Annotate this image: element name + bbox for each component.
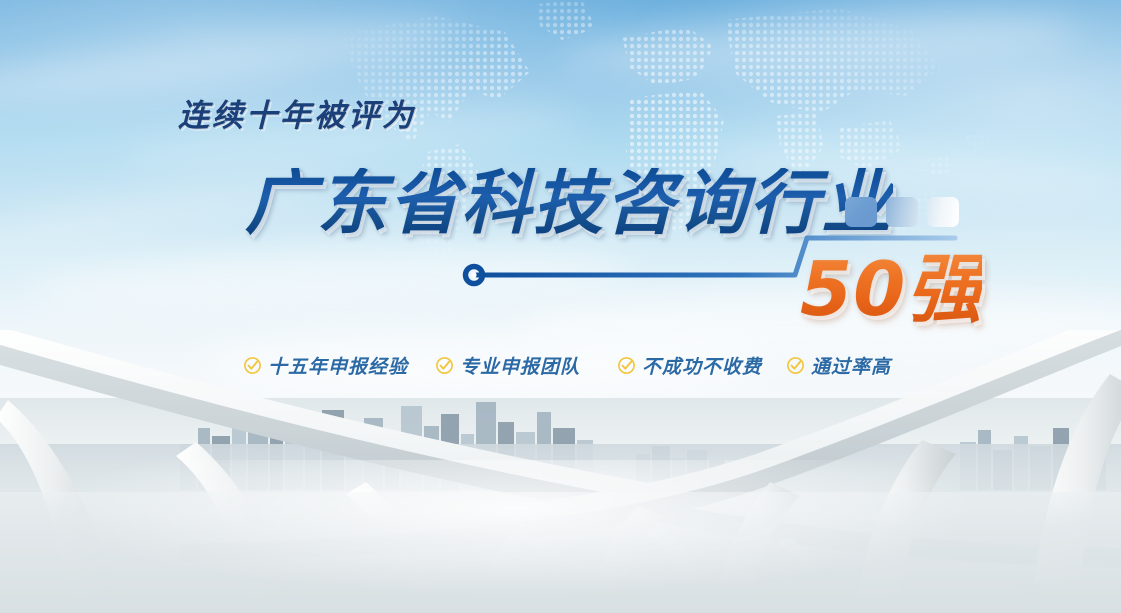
decor-squares-group (845, 197, 959, 227)
feature-label: 十五年申报经验 (268, 352, 408, 379)
feature-label: 专业申报团队 (460, 352, 580, 379)
promo-banner: 连续十年被评为 广东省科技咨询行业 50强 (0, 0, 1121, 613)
feature-item-4: 通过率高 (786, 352, 891, 379)
floor-highlight (0, 460, 1121, 613)
feature-label: 不成功不收费 (642, 352, 762, 379)
feature-item-2: 专业申报团队 (435, 352, 580, 379)
feature-item-3: 不成功不收费 (617, 352, 762, 379)
check-circle-icon (617, 356, 636, 375)
check-circle-icon (243, 356, 262, 375)
feature-label: 通过率高 (811, 352, 891, 379)
feature-item-1: 十五年申报经验 (243, 352, 408, 379)
rank-badge-50: 50强 (800, 252, 982, 327)
decor-square-1 (845, 197, 877, 227)
banner-kicker-text: 连续十年被评为 (178, 90, 416, 135)
check-circle-icon (435, 356, 454, 375)
check-circle-icon (786, 356, 805, 375)
decor-square-3 (927, 197, 959, 227)
decor-square-2 (886, 197, 918, 227)
feature-list: 十五年申报经验 专业申报团队 不成功不收费 (243, 352, 943, 382)
